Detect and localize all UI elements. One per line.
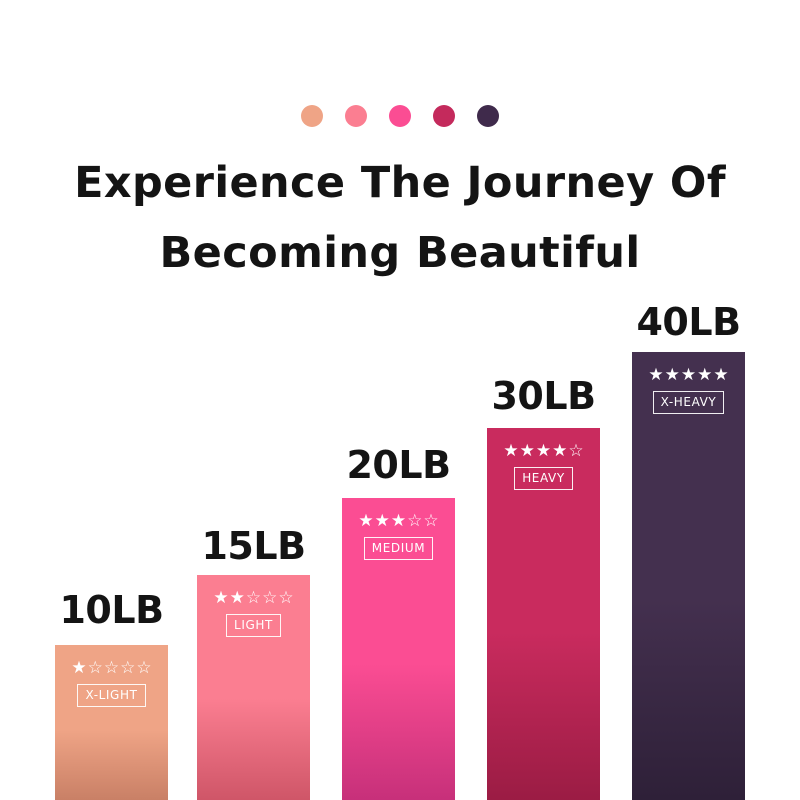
star-filled-icon: ★ xyxy=(552,442,567,461)
star-empty-icon: ☆ xyxy=(278,589,293,608)
star-filled-icon: ★ xyxy=(503,442,518,461)
bar-group-20lb: 20LB★★★☆☆MEDIUM xyxy=(342,0,455,800)
star-empty-icon: ☆ xyxy=(568,442,583,461)
star-empty-icon: ☆ xyxy=(120,659,135,678)
bar-group-40lb: 40LB★★★★★X-HEAVY xyxy=(632,0,745,800)
bar-weight-label: 30LB xyxy=(471,374,616,418)
bar-15lb[interactable]: ★★☆☆☆LIGHT xyxy=(197,575,310,800)
star-filled-icon: ★ xyxy=(648,366,663,385)
bar-group-30lb: 30LB★★★★☆HEAVY xyxy=(487,0,600,800)
bar-30lb[interactable]: ★★★★☆HEAVY xyxy=(487,428,600,800)
star-empty-icon: ☆ xyxy=(262,589,277,608)
star-filled-icon: ★ xyxy=(520,442,535,461)
star-filled-icon: ★ xyxy=(713,366,728,385)
star-filled-icon: ★ xyxy=(697,366,712,385)
star-empty-icon: ☆ xyxy=(423,512,438,531)
bar-badge: ★★★★★X-HEAVY xyxy=(641,366,736,414)
star-filled-icon: ★ xyxy=(665,366,680,385)
product-infographic: Experience The Journey Of Becoming Beaut… xyxy=(0,0,800,800)
star-filled-icon: ★ xyxy=(681,366,696,385)
level-label: HEAVY xyxy=(514,467,573,490)
bar-badge: ★★★☆☆MEDIUM xyxy=(351,512,446,560)
bar-weight-label: 20LB xyxy=(326,443,471,487)
star-filled-icon: ★ xyxy=(536,442,551,461)
bar-10lb[interactable]: ★☆☆☆☆X-LIGHT xyxy=(55,645,168,800)
star-empty-icon: ☆ xyxy=(104,659,119,678)
bar-badge: ★★★★☆HEAVY xyxy=(496,442,591,490)
bar-weight-label: 40LB xyxy=(616,300,761,344)
bar-badge: ★★☆☆☆LIGHT xyxy=(206,589,301,637)
bar-badge: ★☆☆☆☆X-LIGHT xyxy=(64,659,159,707)
level-label: X-HEAVY xyxy=(653,391,725,414)
bar-weight-label: 15LB xyxy=(181,524,326,568)
star-empty-icon: ☆ xyxy=(407,512,422,531)
level-label: X-LIGHT xyxy=(77,684,145,707)
rating-stars: ★☆☆☆☆ xyxy=(71,659,151,678)
star-empty-icon: ☆ xyxy=(136,659,151,678)
rating-stars: ★★★★★ xyxy=(648,366,728,385)
star-filled-icon: ★ xyxy=(391,512,406,531)
rating-stars: ★★★☆☆ xyxy=(358,512,438,531)
bar-weight-label: 10LB xyxy=(39,588,184,632)
star-filled-icon: ★ xyxy=(230,589,245,608)
rating-stars: ★★☆☆☆ xyxy=(213,589,293,608)
star-empty-icon: ☆ xyxy=(88,659,103,678)
star-filled-icon: ★ xyxy=(375,512,390,531)
bar-20lb[interactable]: ★★★☆☆MEDIUM xyxy=(342,498,455,800)
star-empty-icon: ☆ xyxy=(246,589,261,608)
level-label: MEDIUM xyxy=(364,537,433,560)
rating-stars: ★★★★☆ xyxy=(503,442,583,461)
star-filled-icon: ★ xyxy=(358,512,373,531)
bar-group-10lb: 10LB★☆☆☆☆X-LIGHT xyxy=(55,0,168,800)
star-filled-icon: ★ xyxy=(213,589,228,608)
bar-group-15lb: 15LB★★☆☆☆LIGHT xyxy=(197,0,310,800)
bar-40lb[interactable]: ★★★★★X-HEAVY xyxy=(632,352,745,800)
level-label: LIGHT xyxy=(226,614,281,637)
resistance-band-bar-chart: 10LB★☆☆☆☆X-LIGHT15LB★★☆☆☆LIGHT20LB★★★☆☆M… xyxy=(0,0,800,800)
star-filled-icon: ★ xyxy=(71,659,86,678)
